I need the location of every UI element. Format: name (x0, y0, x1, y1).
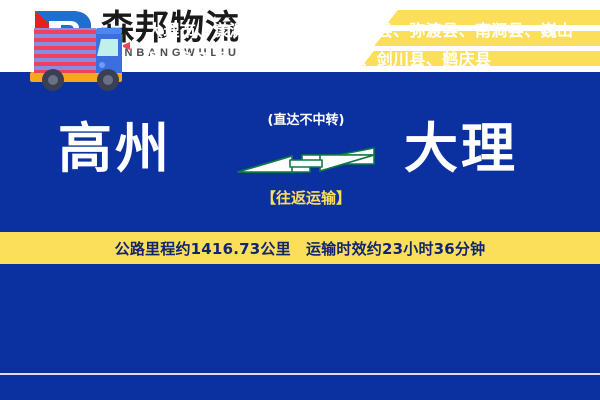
route-middle-group: (直达不中转) 【往返运输】 (236, 112, 376, 220)
double-headed-arrow-icon (234, 142, 378, 184)
distance-duration-text: 公路里程约1416.73公里 运输时效约23小时36分钟 (115, 238, 486, 259)
distance-duration-bar: 公路里程约1416.73公里 运输时效约23小时36分钟 (0, 232, 600, 264)
direct-service-note: (直达不中转) (236, 112, 376, 130)
logistics-route-banner: 森邦物流 SENBANGWULIU 高州 大理 (直达不中转) (0, 0, 600, 400)
roundtrip-service-note: 【往返运输】 (236, 188, 376, 208)
destination-city-label: 大理 (404, 118, 518, 180)
coverage-areas-text: 大理市、漾濞县、祥云县、宾川县、弥渡县、南涧县、巍山县、永平县、云龙县、洱源县、… (147, 16, 585, 74)
coverage-panel (0, 264, 600, 400)
footer-divider (0, 373, 600, 375)
origin-city-label: 高州 (58, 118, 172, 180)
delivery-truck-icon (24, 20, 136, 96)
